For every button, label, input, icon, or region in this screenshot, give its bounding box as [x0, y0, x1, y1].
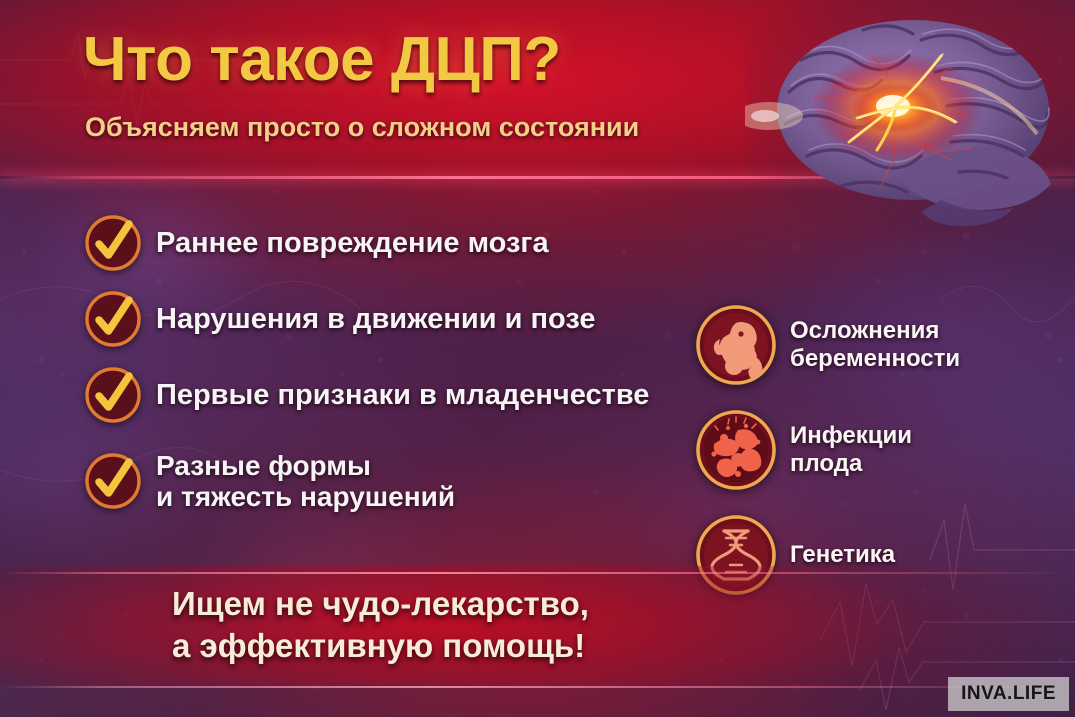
- list-item-label: Разные формы и тяжесть нарушений: [156, 450, 455, 513]
- list-item-label: Раннее повреждение мозга: [156, 227, 549, 259]
- check-icon: [84, 214, 142, 272]
- list-item-label: Инфекции плода: [790, 422, 912, 478]
- list-item-label: Осложнения беременности: [790, 317, 960, 373]
- checklist: Раннее повреждение мозга Нарушения в дви…: [84, 205, 684, 529]
- list-item: Разные формы и тяжесть нарушений: [84, 433, 684, 529]
- list-item: Осложнения беременности: [694, 292, 1044, 397]
- brain-illustration: [745, 0, 1075, 232]
- slogan-rule-bottom: [0, 686, 1075, 688]
- slogan-rule-top: [0, 572, 1075, 574]
- watermark-badge: INVA.LIFE: [948, 677, 1069, 711]
- page-subtitle: Объясняем просто о сложном состоянии: [85, 112, 639, 143]
- check-icon: [84, 290, 142, 348]
- list-item-label: Генетика: [790, 541, 895, 569]
- list-item: Нарушения в движении и позе: [84, 281, 684, 357]
- page-title: Что такое ДЦП?: [83, 24, 561, 95]
- infographic-poster: Что такое ДЦП? Объясняем просто о сложно…: [0, 0, 1075, 717]
- list-item: Раннее повреждение мозга: [84, 205, 684, 281]
- list-item-label: Нарушения в движении и позе: [156, 303, 596, 335]
- check-icon: [84, 452, 142, 510]
- list-item-label: Первые признаки в младенчестве: [156, 379, 649, 411]
- list-item: Инфекции плода: [694, 397, 1044, 502]
- virus-icon: [694, 408, 778, 492]
- causes-list: Осложнения беременности: [694, 292, 1044, 607]
- fetus-icon: [694, 303, 778, 387]
- list-item: Первые признаки в младенчестве: [84, 357, 684, 433]
- check-icon: [84, 366, 142, 424]
- slogan-text: Ищем не чудо-лекарство, а эффективную по…: [172, 583, 589, 667]
